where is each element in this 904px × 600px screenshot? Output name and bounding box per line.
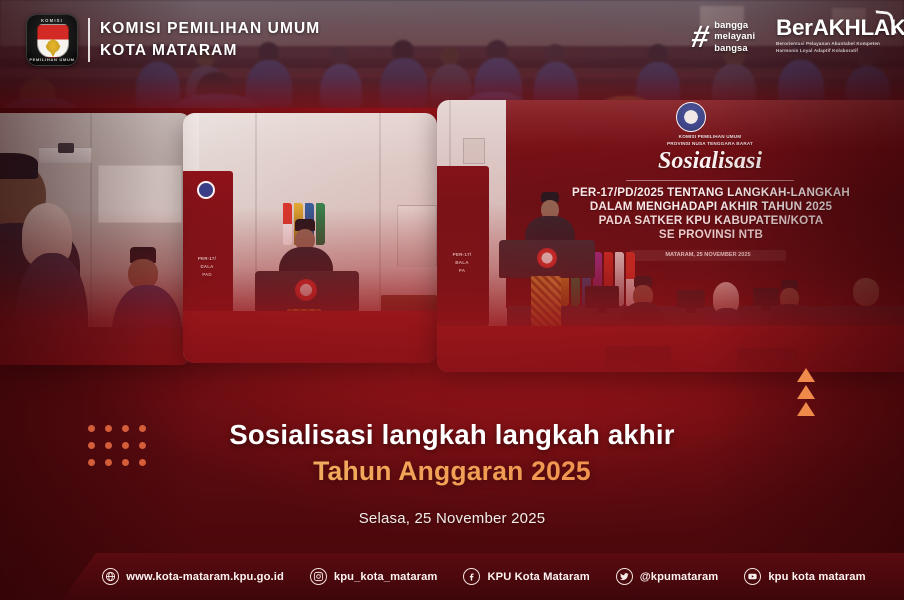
facebook-icon (463, 568, 480, 585)
berakhlak-logo: BerAKHLAK Berorientasi Pelayanan Akuntab… (776, 16, 890, 58)
footer-item-instagram[interactable]: kpu_kota_mataram (310, 568, 438, 585)
footer-item-facebook[interactable]: KPU Kota Mataram (463, 568, 589, 585)
header-line-2: KOTA MATARAM (100, 40, 320, 62)
kpu-logo-arc-top: KOMISI (27, 18, 77, 23)
footer-item-website[interactable]: www.kota-mataram.kpu.go.id (102, 568, 284, 585)
kpu-logo-arc-bottom: PEMILIHAN UMUM (27, 57, 77, 62)
footer-label-facebook: KPU Kota Mataram (487, 571, 589, 583)
berakhlak-wordmark: BerAKHLAK (776, 16, 890, 40)
header-title-block: KOMISI PEMILIHAN UMUM KOTA MATARAM (100, 18, 320, 62)
twitter-icon (616, 568, 633, 585)
footer-label-twitter: @kpumataram (640, 571, 719, 583)
footer-label-website: www.kota-mataram.kpu.go.id (126, 571, 284, 583)
youtube-icon (744, 568, 761, 585)
globe-icon (102, 568, 119, 585)
title-line-2: Tahun Anggaran 2025 (0, 454, 904, 488)
footer-label-youtube: kpu kota mataram (768, 571, 865, 583)
garuda-icon (45, 39, 61, 57)
berakhlak-sub-2: Harmonis Loyal Adaptif Kolaboratif (776, 48, 890, 54)
footer-item-twitter[interactable]: @kpumataram (616, 568, 719, 585)
bmb-line-1: bangga (714, 19, 755, 30)
footer-item-youtube[interactable]: kpu kota mataram (744, 568, 865, 585)
bmb-line-3: bangsa (714, 42, 755, 53)
triangle-decoration (797, 368, 815, 416)
triangle-icon (797, 385, 815, 399)
header-line-1: KOMISI PEMILIHAN UMUM (100, 18, 320, 40)
bmb-line-2: melayani (714, 30, 755, 41)
social-footer: www.kota-mataram.kpu.go.id kpu_kota_mata… (0, 553, 904, 600)
poster-canvas: PER-17/ DALA PAD (0, 0, 904, 600)
kpu-logo-icon: KOMISI PEMILIHAN UMUM (26, 14, 78, 66)
footer-label-instagram: kpu_kota_mataram (334, 571, 438, 583)
instagram-icon (310, 568, 327, 585)
title-line-1: Sosialisasi langkah langkah akhir (0, 418, 904, 452)
triangle-icon (797, 368, 815, 382)
hashtag-icon: # (689, 21, 712, 52)
poster-title-block: Sosialisasi langkah langkah akhir Tahun … (0, 418, 904, 527)
berakhlak-sub-1: Berorientasi Pelayanan Akuntabel Kompete… (776, 41, 890, 47)
header-divider (88, 18, 90, 62)
triangle-icon (797, 402, 815, 416)
event-date: Selasa, 25 November 2025 (0, 510, 904, 527)
bangga-melayani-bangsa-logo: # bangga melayani bangsa (692, 14, 768, 58)
